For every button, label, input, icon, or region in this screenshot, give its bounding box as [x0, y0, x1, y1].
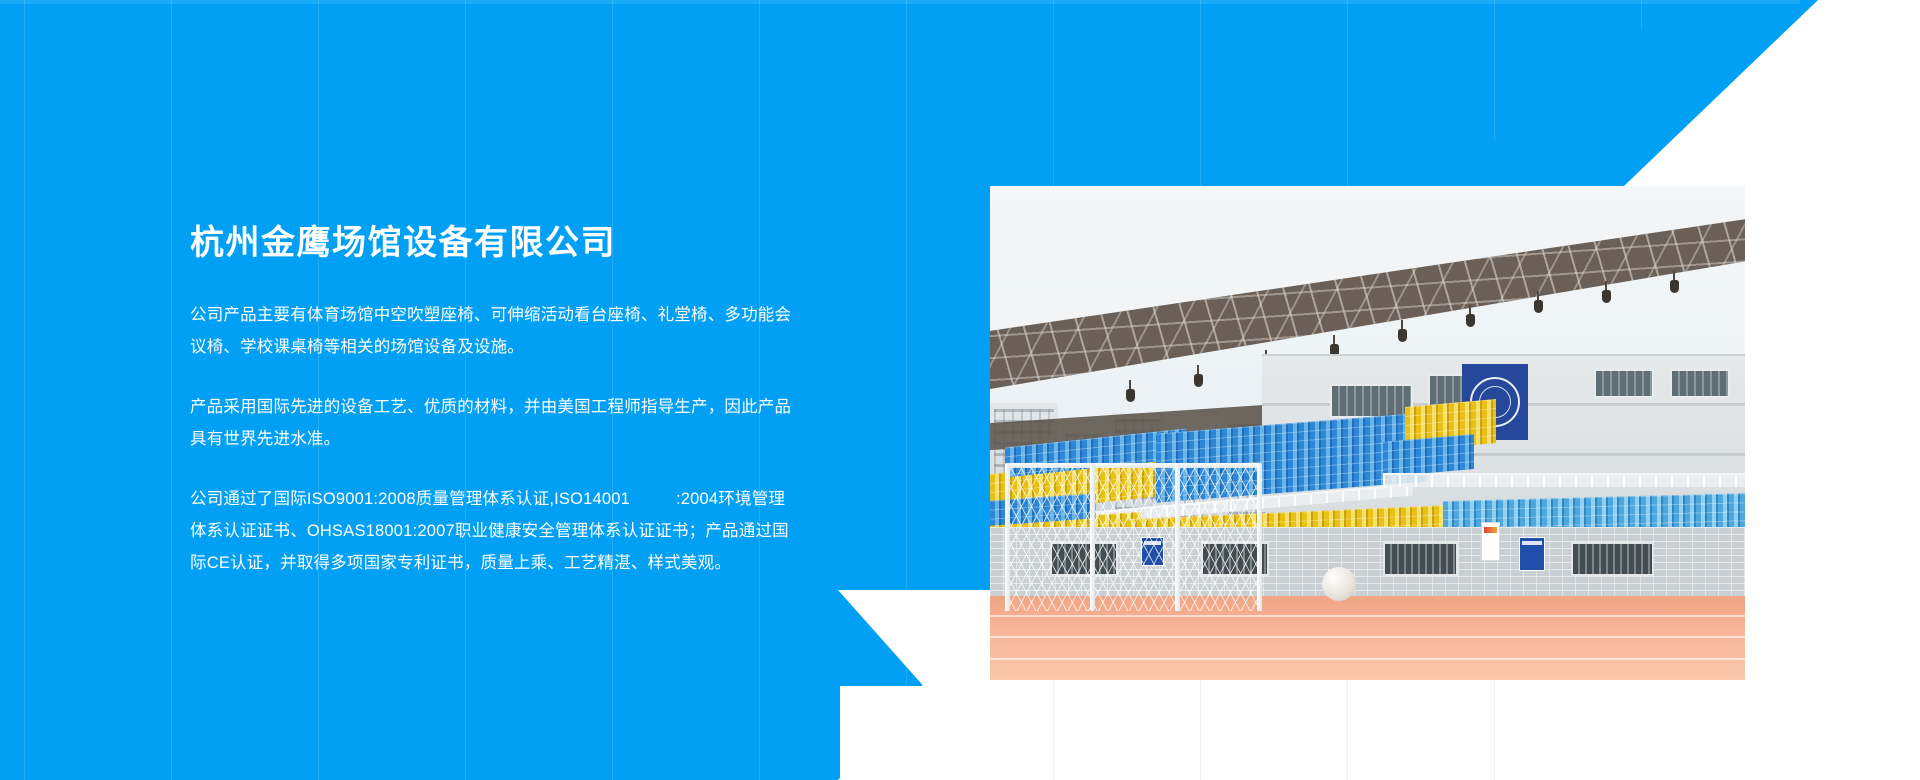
ceiling-lamp	[1670, 280, 1679, 293]
ceiling-lamp	[1534, 300, 1543, 313]
goal-post	[1175, 463, 1180, 611]
hero-banner-stage: 杭州金鹰场馆设备有限公司 公司产品主要有体育场馆中空吹塑座椅、可伸缩活动看台座椅…	[0, 0, 1920, 780]
certification-text-part1: 公司通过了国际ISO9001:2008质量管理体系认证,ISO14001	[190, 490, 630, 508]
goal-post	[1005, 463, 1010, 611]
press-box-window	[1594, 369, 1654, 399]
press-box-window	[1330, 384, 1413, 419]
wall-sign-blue	[1519, 537, 1545, 572]
company-title: 杭州金鹰场馆设备有限公司	[190, 222, 830, 265]
paragraph-certification: 公司通过了国际ISO9001:2008质量管理体系认证,ISO14001:200…	[190, 483, 800, 579]
banner-text-column: 杭州金鹰场馆设备有限公司 公司产品主要有体育场馆中空吹塑座椅、可伸缩活动看台座椅…	[190, 222, 830, 579]
press-box-window	[1670, 369, 1730, 399]
goal-post	[1090, 463, 1095, 611]
ceiling-lamp	[1466, 314, 1475, 327]
stadium-photo	[990, 186, 1745, 680]
wall-window	[1571, 542, 1654, 577]
ceiling-lamp	[1126, 389, 1135, 402]
goal-post	[1257, 463, 1262, 611]
soccer-goal	[1005, 463, 1262, 611]
ceiling-lamp	[1194, 374, 1203, 387]
deck-railing	[1383, 473, 1745, 488]
wall-sign-red	[1481, 522, 1500, 562]
ceiling-lamp	[1602, 290, 1611, 303]
banner-top-highlight-strip	[0, 0, 1800, 4]
goal-net	[1005, 467, 1262, 611]
soccer-ball	[1322, 567, 1356, 601]
wall-window	[1383, 542, 1459, 577]
ceiling-lamp	[1398, 329, 1407, 342]
paragraph-products: 公司产品主要有体育场馆中空吹塑座椅、可伸缩活动看台座椅、礼堂椅、多功能会议椅、学…	[190, 299, 800, 363]
paragraph-technology: 产品采用国际先进的设备工艺、优质的材料，并由美国工程师指导生产，因此产品具有世界…	[190, 391, 800, 455]
stadium-photo-image	[990, 186, 1745, 680]
